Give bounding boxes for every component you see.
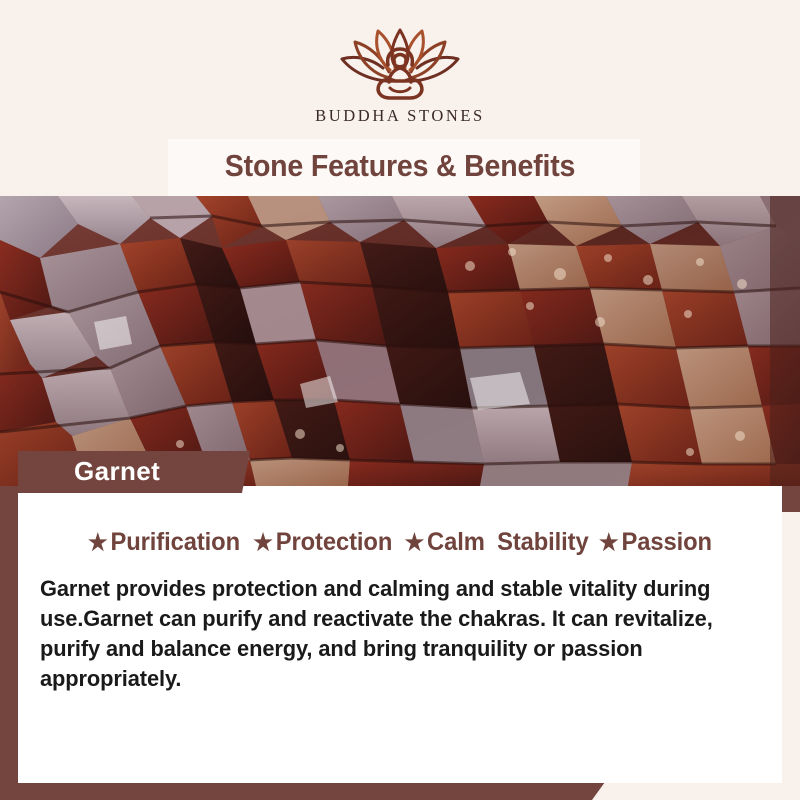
frame-left-bar bbox=[0, 486, 18, 783]
star-icon: ★ bbox=[88, 529, 108, 555]
feature-item-purification: ★Purification bbox=[88, 528, 240, 557]
feature-item-protection: ★Protection bbox=[253, 528, 392, 557]
lotus-meditating-figure-icon bbox=[320, 22, 480, 102]
content-panel: ★Purification★Protection★CalmStability★P… bbox=[18, 486, 782, 783]
feature-item-passion: ★Passion bbox=[599, 528, 712, 557]
feature-item-stability: Stability bbox=[497, 528, 589, 557]
stone-info-card: BUDDHA STONES Stone Features & Benefits bbox=[0, 0, 800, 800]
feature-list: ★Purification★Protection★CalmStability★P… bbox=[37, 528, 763, 557]
star-icon: ★ bbox=[599, 529, 619, 555]
feature-label: Stability bbox=[497, 528, 589, 556]
brand-logo: BUDDHA STONES bbox=[0, 22, 800, 126]
page-title: Stone Features & Benefits bbox=[32, 148, 768, 184]
feature-label: Protection bbox=[276, 528, 392, 556]
feature-label: Purification bbox=[111, 528, 240, 556]
garnet-crystal-cluster-photo bbox=[0, 196, 800, 486]
stone-photo bbox=[0, 196, 800, 486]
brand-name: BUDDHA STONES bbox=[0, 106, 800, 126]
star-icon: ★ bbox=[253, 529, 273, 555]
feature-label: Calm bbox=[427, 528, 485, 556]
feature-label: Passion bbox=[621, 528, 711, 556]
frame-bottom-left-bar bbox=[0, 782, 605, 800]
feature-item-calm: ★Calm bbox=[405, 528, 485, 557]
stone-description: Garnet provides protection and calming a… bbox=[40, 574, 746, 694]
star-icon: ★ bbox=[405, 529, 425, 555]
stone-name-label: Garnet bbox=[74, 456, 160, 487]
